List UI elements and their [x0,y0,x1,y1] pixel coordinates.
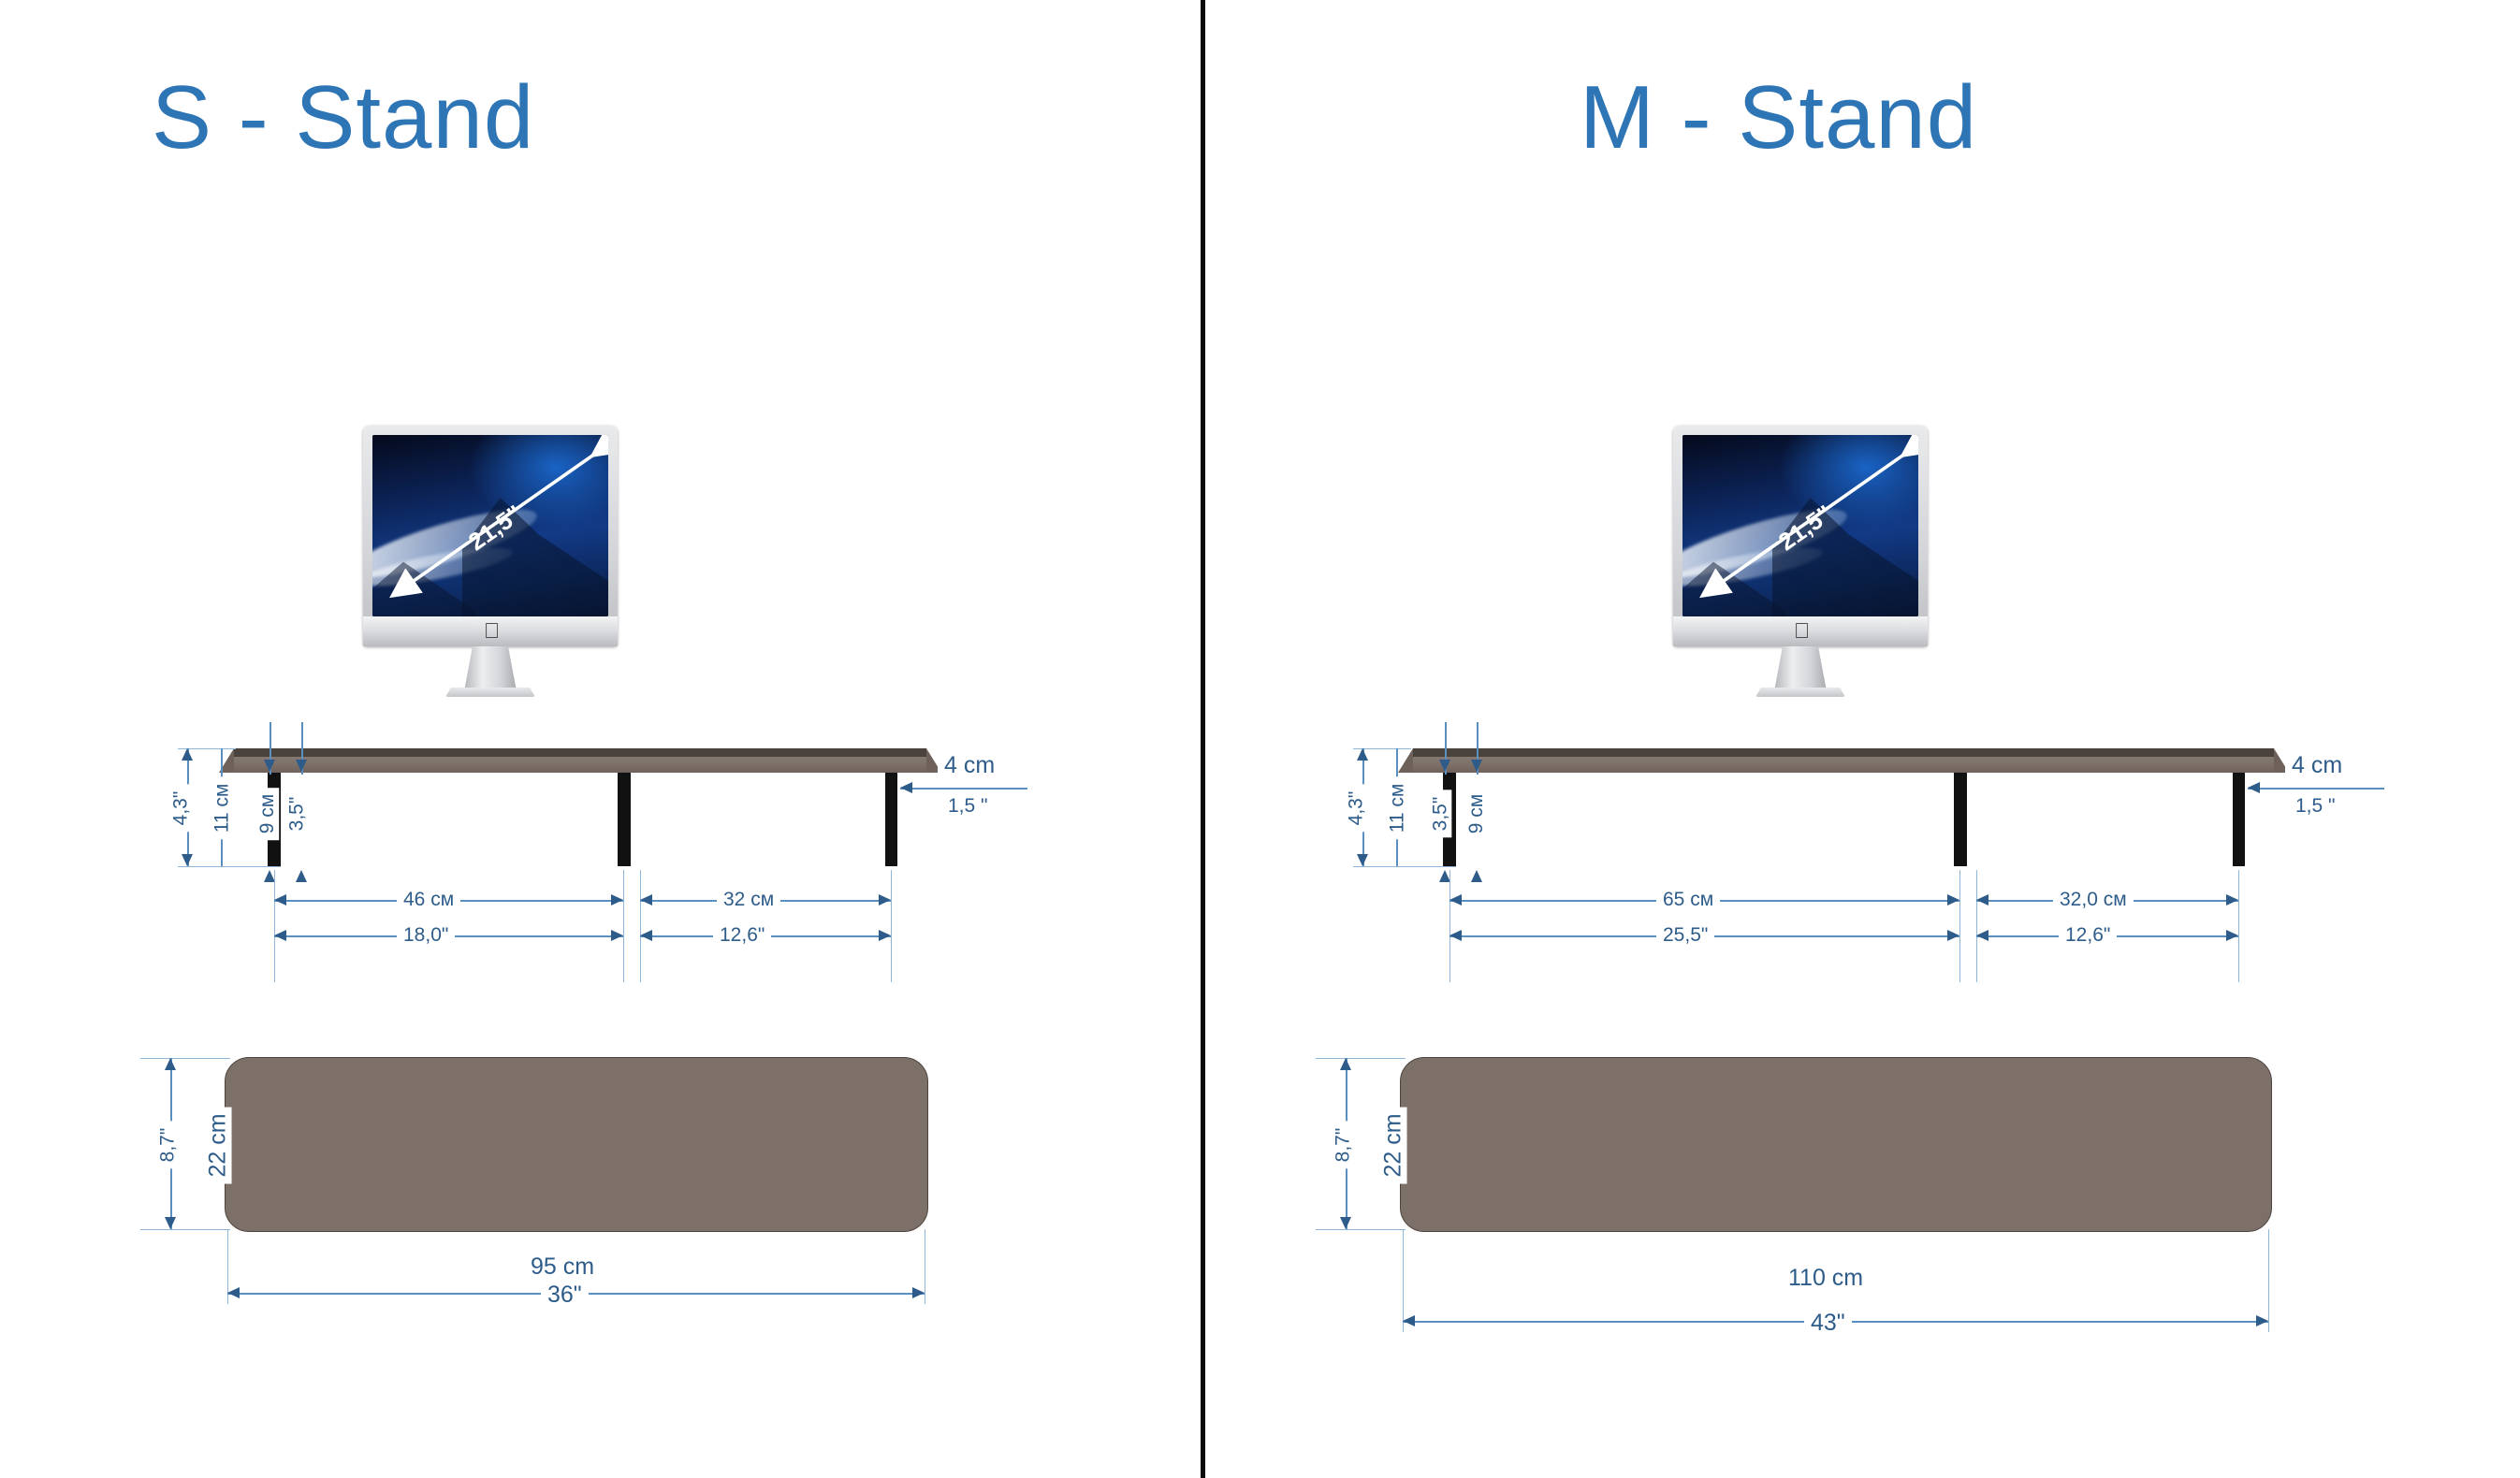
dim-leg-inset-cm-s: 9 см [256,788,279,840]
dim-depth-cm-m: 22 cm [1380,1107,1407,1183]
panel-s-stand: S - Stand 21,5" [0,0,1201,1478]
imac-illustration-m: 21,5"  [1673,426,1928,744]
dim-span-right-cm-m: 32,0 см [2053,889,2134,911]
imac-screen: 21,5" [372,435,608,616]
dim-span-left-cm-s: 46 см [397,889,460,911]
dim-depth-inch-m: 8,7" [1332,1122,1354,1169]
panel-title-s: S - Stand [152,73,534,163]
imac-stand-foot [1755,688,1845,697]
panel-title-m: M - Stand [1580,73,1977,163]
panel-divider [1201,0,1205,1478]
dim-span-right-inch-s: 12,6" [713,924,771,947]
dim-leg-inset-inch-m: 3,5" [1429,790,1451,838]
dim-height-inch-s: 4,3" [169,785,192,833]
panel-m-stand: M - Stand 21,5"  [1205,0,2520,1478]
dim-width-cm-s: 95 cm [524,1253,601,1281]
dim-height-inch-m: 4,3" [1345,785,1367,833]
dim-width-cm-m: 110 cm [1782,1265,1870,1292]
apple-logo-icon:  [484,620,500,642]
imac-stand-foot [445,688,535,697]
dim-thickness-cm-m: 4 cm [2285,752,2349,779]
dim-leg-inset-cm-m: 9 см [1465,788,1488,840]
dim-thickness-cm-s: 4 cm [938,752,1001,779]
dim-height-cm-s: 11 см [211,777,233,840]
imac-screen: 21,5" [1682,435,1918,616]
shelf-leg-right [2233,773,2245,866]
shelf-leg-right [885,773,897,866]
shelf-plan-view-s [225,1057,928,1232]
shelf-leg-middle [618,773,631,866]
dim-leg-inset-inch-s: 3,5" [285,790,308,838]
dim-width-inch-s: 36" [541,1282,589,1309]
imac-stand-neck [464,646,517,691]
imac-stand-neck [1774,646,1827,691]
shelf-leg-middle [1954,773,1967,866]
shelf-plan-view-m [1400,1057,2272,1232]
dim-span-left-inch-m: 25,5" [1656,924,1714,947]
dim-depth-cm-s: 22 cm [205,1107,232,1183]
dim-depth-inch-s: 8,7" [156,1122,179,1169]
dim-width-inch-m: 43" [1804,1310,1852,1337]
dim-span-left-inch-s: 18,0" [397,924,455,947]
dim-span-right-inch-m: 12,6" [2059,924,2117,947]
dim-thickness-inch-m: 1,5 " [2289,795,2341,818]
dim-span-right-cm-s: 32 см [717,889,780,911]
dim-thickness-inch-s: 1,5 " [941,795,994,818]
dim-height-cm-m: 11 см [1386,777,1408,840]
imac-illustration-s: 21,5"  [363,426,618,744]
dim-span-left-cm-m: 65 см [1656,889,1720,911]
apple-logo-icon:  [1794,620,1810,642]
